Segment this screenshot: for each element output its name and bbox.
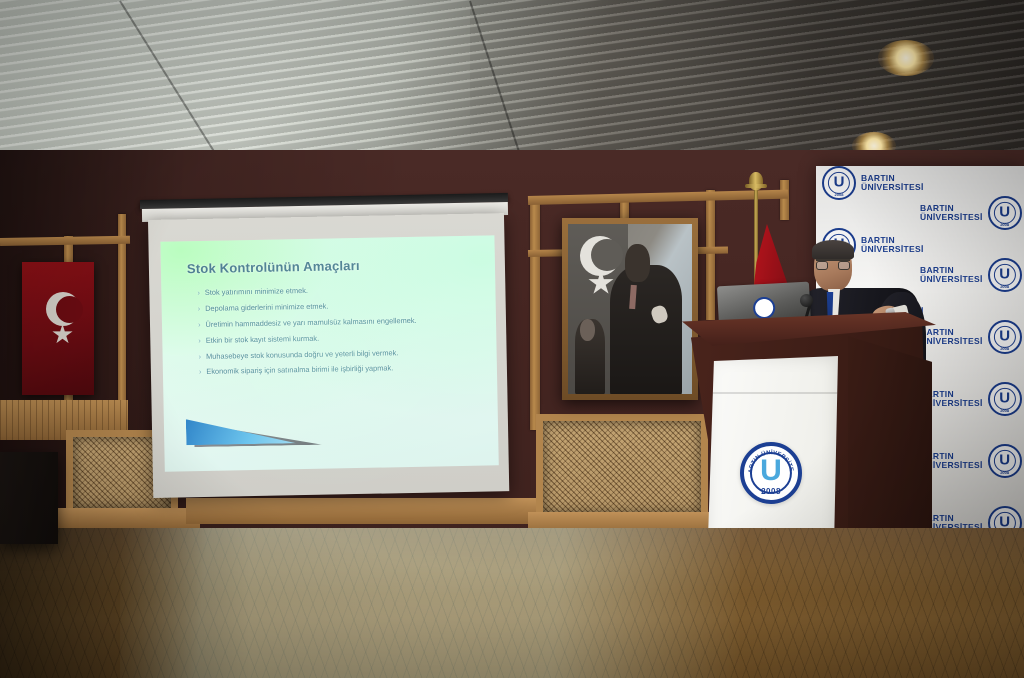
slide-bullet-text: Muhasebeye stok konusunda doğru ve yeter… xyxy=(206,349,398,360)
banner-logo-item: BARTINÜNİVERSİTESİU2008 xyxy=(920,438,1024,484)
logo-monogram: U xyxy=(999,329,1010,344)
ataturk-portrait-frame xyxy=(562,218,698,400)
logo-year: 2008 xyxy=(1000,408,1009,413)
bullet-marker-icon: › xyxy=(197,289,200,297)
wood-post xyxy=(780,180,789,220)
panel-seam xyxy=(706,392,838,394)
speaker-hair xyxy=(812,240,854,260)
banner-logo-item: U2008BARTINÜNİVERSİTESİ xyxy=(822,166,926,206)
banner-text: BARTINÜNİVERSİTESİ xyxy=(920,204,983,222)
university-logo-icon: U2008 xyxy=(988,258,1022,292)
university-logo: BARTIN ÜNİVERSİTESİ U 2008 xyxy=(740,442,802,504)
slide-bullet-list: › Stok yatırımını minimize etmek. › Depo… xyxy=(197,284,469,376)
slide-bullet: › Depolama giderlerini minimize etmek. xyxy=(198,300,468,313)
slide-bullet-text: Stok yatırımını minimize etmek. xyxy=(205,287,308,297)
banner-text: BARTINÜNİVERSİTESİ xyxy=(920,266,983,284)
flag-pole-finial xyxy=(749,172,763,190)
banner-text: BARTINÜNİVERSİTESİ xyxy=(920,328,983,346)
portrait-figure-body xyxy=(610,265,682,394)
university-logo-icon: U2008 xyxy=(988,320,1022,354)
logo-monogram: U xyxy=(760,456,782,486)
glasses-lens xyxy=(816,261,828,270)
floor-shadow xyxy=(0,528,250,678)
banner-logo-item: BARTINÜNİVERSİTESİU2008 xyxy=(920,252,1024,298)
banner-text-line2: ÜNİVERSİTESİ xyxy=(920,213,983,222)
university-logo-icon: U2008 xyxy=(988,196,1022,230)
banner-logo-item: BARTINÜNİVERSİTESİU2008 xyxy=(920,190,1024,236)
bullet-marker-icon: › xyxy=(199,368,202,376)
bullet-marker-icon: › xyxy=(198,305,201,313)
university-logo-icon: U2008 xyxy=(988,382,1022,416)
projection-screen: Stok Kontrolünün Amaçları › Stok yatırım… xyxy=(148,213,509,498)
logo-year: 2008 xyxy=(1000,222,1009,227)
logo-year: 2008 xyxy=(761,487,781,496)
banner-logo-item: BARTINÜNİVERSİTESİU2008 xyxy=(920,376,1024,422)
logo-monogram: U xyxy=(999,453,1010,468)
banner-logo-item: BARTINÜNİVERSİTESİU2008 xyxy=(920,314,1024,360)
banner-text-line2: ÜNİVERSİTESİ xyxy=(920,275,983,284)
bullet-marker-icon: › xyxy=(199,353,202,361)
university-logo-icon: U2008 xyxy=(822,166,856,200)
portrait-figure-head xyxy=(625,244,650,281)
logo-monogram-accent: U xyxy=(760,454,782,487)
speaker-glasses xyxy=(816,259,850,263)
logo-monogram: U xyxy=(999,205,1010,220)
presentation-hall-photo: Stok Kontrolünün Amaçları › Stok yatırım… xyxy=(0,0,1024,678)
slide-bullet: › Etkin bir stok kayıt sistemi kurmak. xyxy=(198,332,468,345)
logo-year: 2008 xyxy=(1000,470,1009,475)
slide-bullet-text: Depolama giderlerini minimize etmek. xyxy=(205,303,328,313)
university-logo-icon xyxy=(753,297,776,320)
microphone xyxy=(800,294,813,307)
slide-title: Stok Kontrolünün Amaçları xyxy=(187,258,360,276)
wood-post xyxy=(530,200,540,430)
banner-text-line2: ÜNİVERSİTESİ xyxy=(861,245,924,254)
slide-bullet: › Stok yatırımını minimize etmek. xyxy=(197,284,467,297)
university-logo-icon: U2008 xyxy=(988,444,1022,478)
logo-year: 2008 xyxy=(1000,346,1009,351)
slide-bullet-text: Ekonomik sipariş için satınalma birimi i… xyxy=(206,365,393,376)
banner-text: BARTINÜNİVERSİTESİ xyxy=(861,174,924,192)
wall-grille-panel xyxy=(536,414,708,520)
banner-text-line2: ÜNİVERSİTESİ xyxy=(920,337,983,346)
baseboard xyxy=(186,498,536,524)
presentation-slide: Stok Kontrolünün Amaçları › Stok yatırım… xyxy=(160,235,498,471)
turkish-flag-wall xyxy=(22,262,94,395)
slide-bullet: › Üretimin hammaddesiz ve yarı mamulsüz … xyxy=(198,316,468,329)
star-icon xyxy=(52,324,73,345)
slide-bullet-text: Üretimin hammaddesiz ve yarı mamulsüz ka… xyxy=(205,317,416,329)
wood-post xyxy=(706,190,715,320)
crescent-icon xyxy=(46,292,80,326)
slide-bullet-text: Etkin bir stok kayıt sistemi kurmak. xyxy=(206,334,319,344)
banner-text: BARTINÜNİVERSİTESİ xyxy=(861,236,924,254)
logo-year: 2008 xyxy=(835,192,844,197)
logo-year: 2008 xyxy=(1000,284,1009,289)
logo-monogram: U xyxy=(999,267,1010,282)
banner-text-line2: ÜNİVERSİTESİ xyxy=(861,183,924,192)
dark-cabinet xyxy=(0,452,58,544)
crescent-icon xyxy=(580,236,620,276)
bullet-marker-icon: › xyxy=(198,321,201,329)
logo-monogram: U xyxy=(834,175,845,190)
logo-monogram: U xyxy=(999,391,1010,406)
ceiling-light xyxy=(878,40,934,76)
glasses-lens xyxy=(838,261,850,270)
slide-bullet: › Ekonomik sipariş için satınalma birimi… xyxy=(199,363,469,376)
bullet-marker-icon: › xyxy=(198,337,201,345)
slide-bullet: › Muhasebeye stok konusunda doğru ve yet… xyxy=(199,348,469,361)
ataturk-portrait xyxy=(568,224,692,394)
